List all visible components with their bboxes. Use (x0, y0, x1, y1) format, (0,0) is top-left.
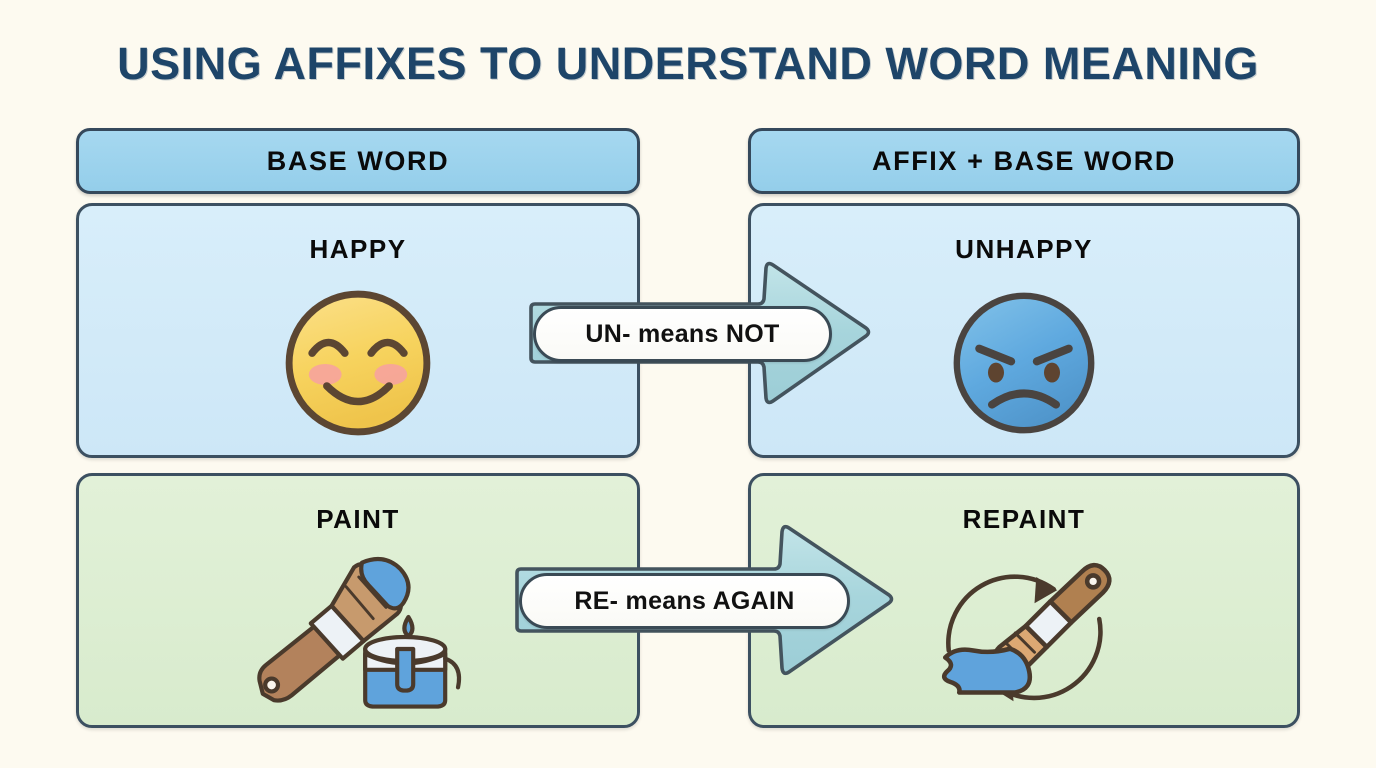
arrow-label-un-text: UN- means NOT (585, 320, 779, 349)
arrow-un-means-not: UN- means NOT (527, 258, 872, 410)
affixes-infographic: USING AFFIXES TO UNDERSTAND WORD MEANING… (0, 0, 1376, 768)
column-header-base-word: BASE WORD (76, 128, 640, 194)
column-header-affix-base-word-label: AFFIX + BASE WORD (872, 146, 1176, 177)
column-header-affix-base-word: AFFIX + BASE WORD (748, 128, 1300, 194)
arrow-re-means-again: RE- means AGAIN (513, 521, 895, 681)
page-title: USING AFFIXES TO UNDERSTAND WORD MEANING (0, 38, 1376, 90)
arrow-label-re-text: RE- means AGAIN (574, 587, 794, 616)
column-header-base-word-label: BASE WORD (267, 146, 449, 177)
arrow-label-un: UN- means NOT (533, 306, 832, 362)
arrow-label-re: RE- means AGAIN (519, 573, 850, 629)
